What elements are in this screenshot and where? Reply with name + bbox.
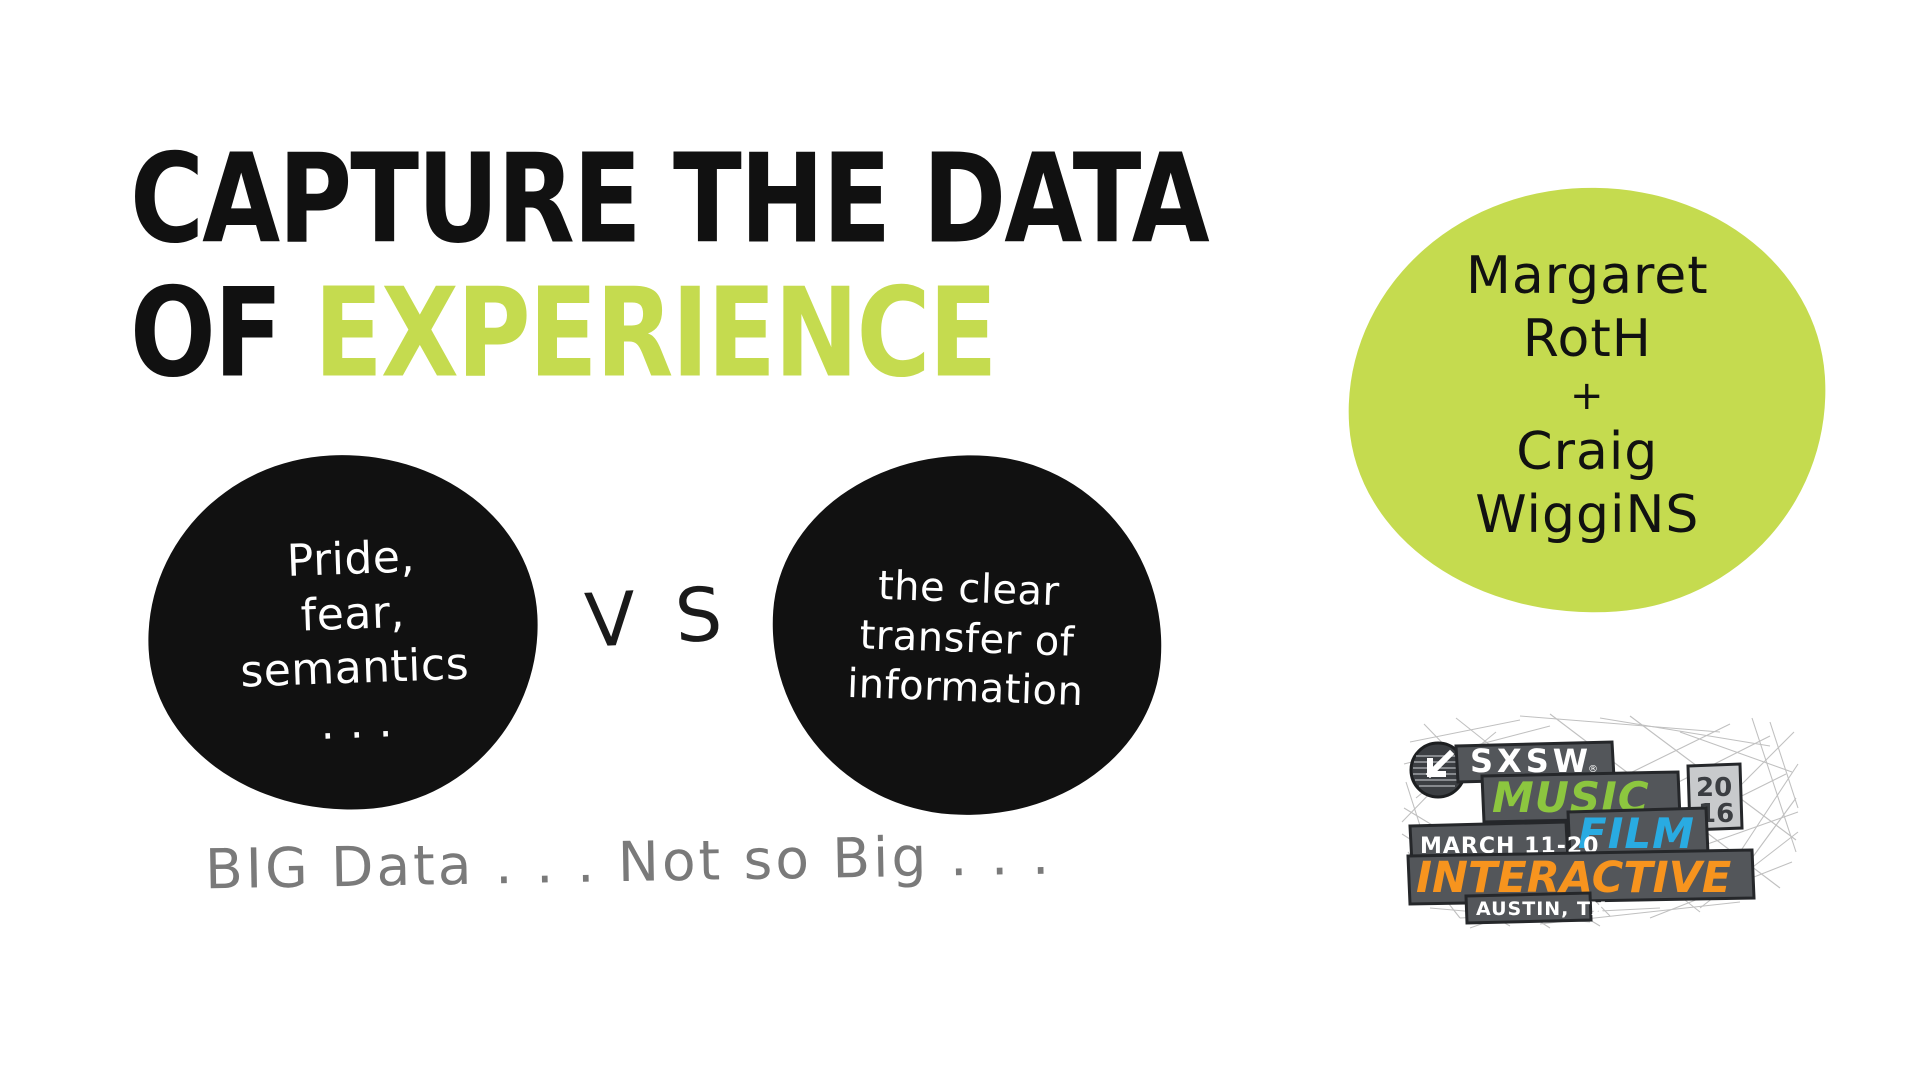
- sxsw-city-text: AUSTIN, TX: [1476, 898, 1607, 920]
- speaker-line-4: Craig: [1466, 421, 1709, 484]
- left-blob-line-1: Pride,: [235, 529, 466, 591]
- speaker-badge: Margaret RotH + Craig WiggiNS: [1334, 172, 1840, 629]
- slide-canvas: CAPTURE THE DATA OF EXPERIENCE Pride, fe…: [0, 0, 1920, 1080]
- speaker-names: Margaret RotH + Craig WiggiNS: [1466, 245, 1709, 548]
- left-blob-text: Pride, fear, semantics . . .: [217, 528, 489, 755]
- headline-line-2: OF EXPERIENCE: [130, 274, 1216, 394]
- diagram-caption: BIG Data . . . Not so Big . . .: [205, 823, 1053, 902]
- left-blob-line-4: . . .: [241, 693, 472, 755]
- left-concept-blob: Pride, fear, semantics . . .: [139, 445, 547, 820]
- speaker-line-1: Margaret: [1466, 245, 1709, 308]
- left-blob-line-3: semantics: [239, 638, 470, 700]
- sxsw-logo: SXSW ® MUSIC 20 16 FILM MARC: [1400, 712, 1800, 932]
- versus-label: V S: [583, 571, 732, 664]
- sxsw-city-row: AUSTIN, TX: [1466, 893, 1607, 923]
- right-blob-line-3: information: [846, 660, 1084, 718]
- right-blob-text: the clear transfer of information: [828, 560, 1105, 718]
- headline-line-1: CAPTURE THE DATA: [130, 140, 1216, 260]
- right-concept-blob: the clear transfer of information: [760, 442, 1174, 828]
- left-blob-line-2: fear,: [237, 584, 468, 646]
- speaker-line-2: RotH: [1466, 309, 1709, 372]
- headline-prefix: OF: [130, 261, 314, 405]
- speaker-line-5: WiggiNS: [1466, 484, 1709, 547]
- right-blob-line-2: transfer of: [848, 610, 1086, 668]
- speaker-line-3: +: [1466, 372, 1709, 421]
- headline-accent-word: EXPERIENCE: [314, 261, 996, 405]
- right-blob-line-1: the clear: [850, 561, 1088, 619]
- page-title: CAPTURE THE DATA OF EXPERIENCE: [130, 140, 1250, 376]
